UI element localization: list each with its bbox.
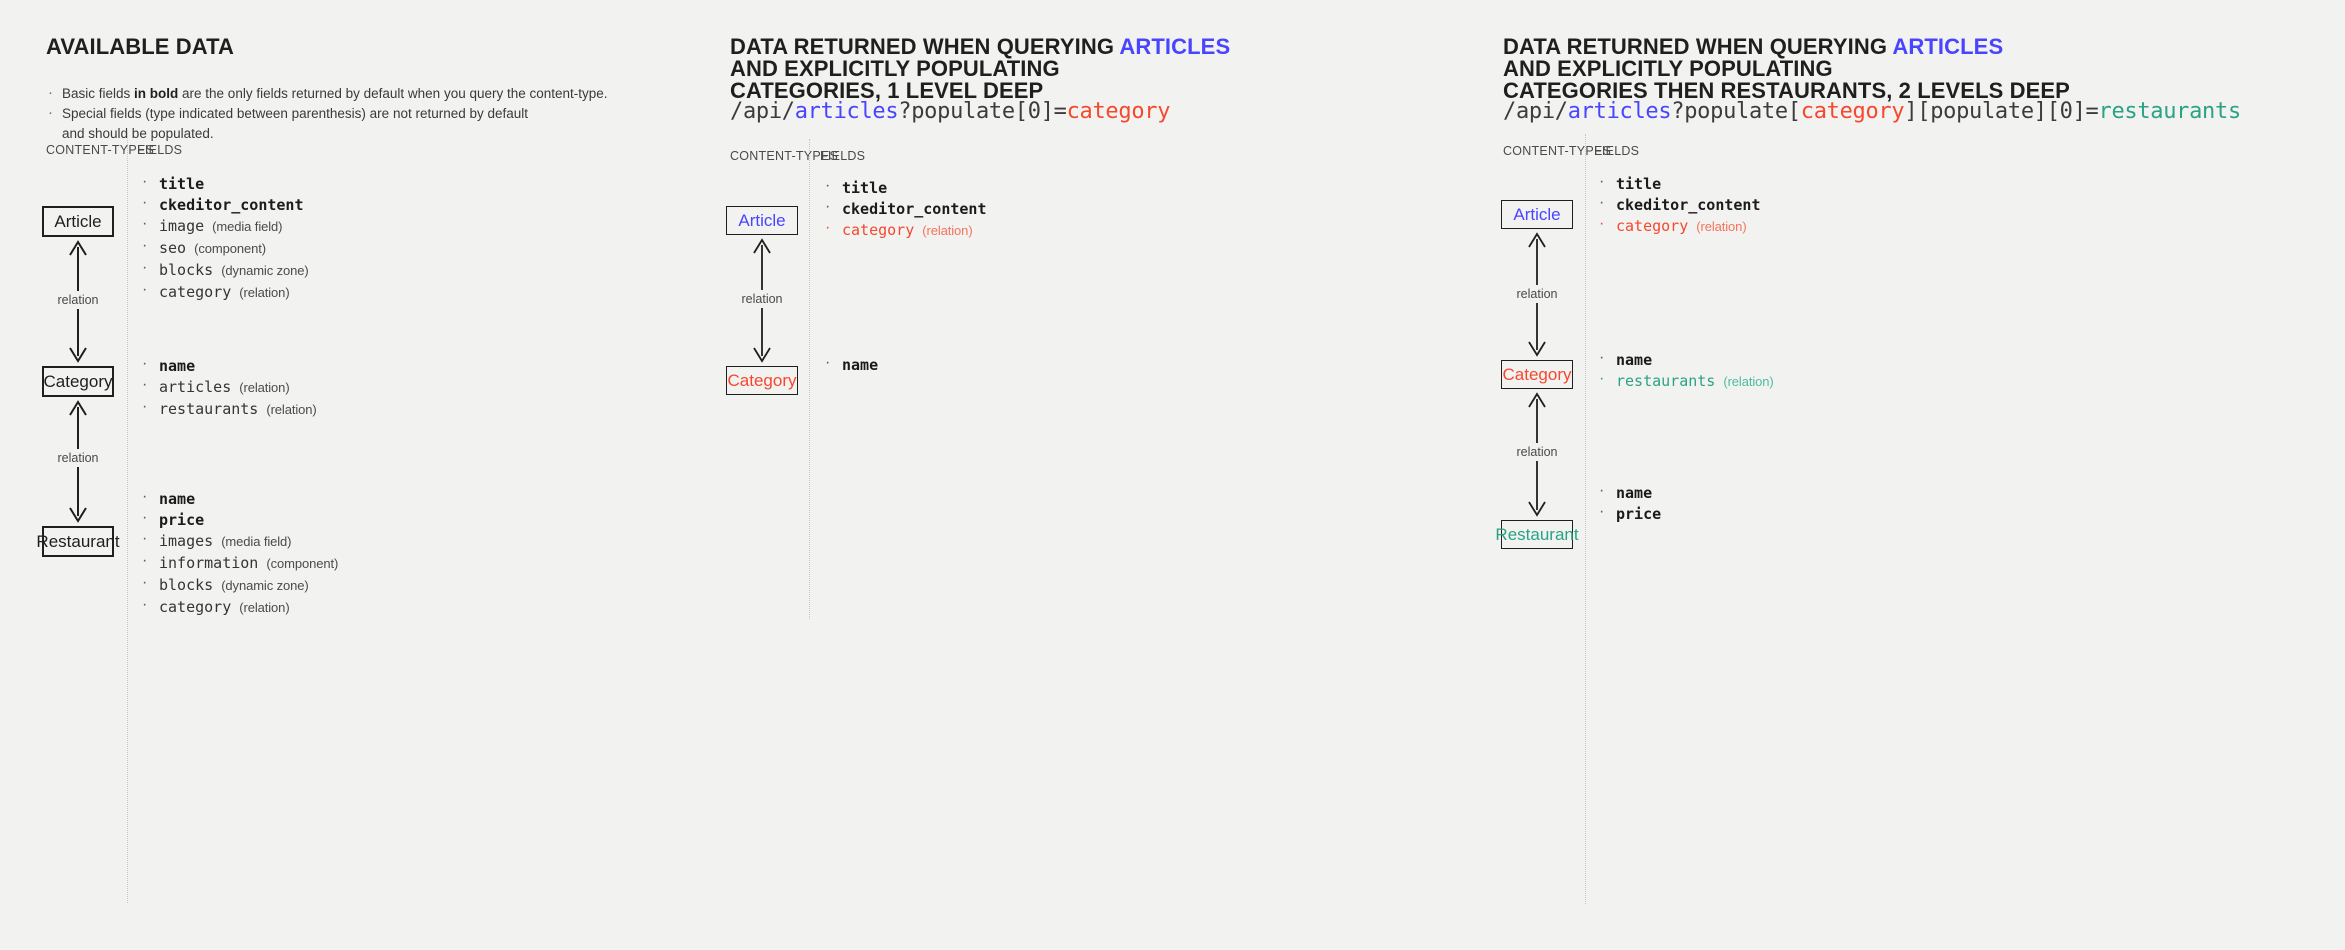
field-name: images — [159, 532, 213, 550]
field-name: name — [1616, 484, 1652, 502]
fieldlist-restaurant: name price — [1594, 485, 1661, 527]
field-type: (relation) — [1696, 219, 1746, 234]
field-name: category — [842, 221, 914, 239]
entity-box-restaurant[interactable]: Restaurant — [1501, 520, 1573, 549]
note-text-pre: Special fields (type indicated between p… — [62, 106, 528, 121]
fieldlist-article: title ckeditor_content category(relation… — [1594, 176, 1761, 240]
field-row: title — [137, 176, 309, 192]
heading-highlight-articles: ARTICLES — [1119, 34, 1230, 59]
field-row: ckeditor_content — [820, 201, 987, 217]
field-row: category(relation) — [137, 599, 338, 616]
panel-populate-1-level: DATA RETURNED WHEN QUERYING ARTICLES AND… — [720, 0, 1490, 950]
note-text-continued: and should be populated. — [62, 123, 666, 143]
field-name: category — [159, 283, 231, 301]
field-row: name — [1594, 352, 1774, 368]
field-name: blocks — [159, 261, 213, 279]
relation-label: relation — [737, 290, 788, 308]
field-row: image(media field) — [137, 218, 309, 235]
field-name: price — [159, 511, 204, 529]
panel1-heading: AVAILABLE DATA — [46, 30, 234, 63]
field-name: name — [842, 356, 878, 374]
field-name: seo — [159, 239, 186, 257]
relation-label: relation — [1512, 285, 1563, 303]
field-type: (relation) — [239, 600, 289, 615]
field-row: name — [137, 358, 317, 374]
field-name: restaurants — [1616, 372, 1715, 390]
panel-available-data: AVAILABLE DATA Basic fields in bold are … — [0, 0, 720, 950]
api-path-part-category: category — [1801, 99, 1905, 124]
panel2-fields-label: FIELDS — [820, 149, 865, 163]
field-name: title — [159, 175, 204, 193]
fieldlist-category: name restaurants(relation) — [1594, 352, 1774, 395]
field-row: blocks(dynamic zone) — [137, 262, 309, 279]
api-path-part: /api/ — [1503, 99, 1568, 124]
field-name: price — [1616, 505, 1661, 523]
api-path-part: ?populate[0]= — [898, 99, 1066, 124]
fieldlist-article: title ckeditor_content category(relation… — [820, 180, 987, 244]
fieldlist-article: title ckeditor_content image(media field… — [137, 176, 309, 306]
field-row: category(relation) — [137, 284, 309, 301]
entity-box-article[interactable]: Article — [42, 206, 114, 237]
field-name: restaurants — [159, 400, 258, 418]
field-name: articles — [159, 378, 231, 396]
api-path-part-articles: articles — [1568, 99, 1672, 124]
field-row: restaurants(relation) — [137, 401, 317, 418]
fieldlist-category: name — [820, 357, 878, 378]
field-name: information — [159, 554, 258, 572]
field-type: (relation) — [239, 380, 289, 395]
field-row: ckeditor_content — [1594, 197, 1761, 213]
panel3-api-path: /api/articles?populate[category][populat… — [1503, 99, 2241, 124]
relation-label: relation — [53, 449, 104, 467]
field-row: images(media field) — [137, 533, 338, 550]
field-type: (dynamic zone) — [221, 263, 308, 278]
panel1-fields-label: FIELDS — [137, 143, 182, 157]
field-name: name — [1616, 351, 1652, 369]
field-row: name — [820, 357, 878, 373]
field-row: category(relation) — [820, 222, 987, 239]
note-text-pre: Basic fields — [62, 86, 134, 101]
panel3-column-divider — [1585, 134, 1586, 904]
field-type: (relation) — [239, 285, 289, 300]
field-name: name — [159, 357, 195, 375]
field-name: ckeditor_content — [159, 196, 304, 214]
entity-box-category[interactable]: Category — [726, 366, 798, 395]
field-row: name — [137, 491, 338, 507]
field-row: seo(component) — [137, 240, 309, 257]
note-item: Special fields (type indicated between p… — [46, 105, 666, 143]
api-path-part-articles: articles — [795, 99, 899, 124]
api-path-part-restaurants: restaurants — [2099, 99, 2241, 124]
field-name: blocks — [159, 576, 213, 594]
field-row: restaurants(relation) — [1594, 373, 1774, 390]
heading-highlight-articles: ARTICLES — [1892, 34, 2003, 59]
field-name: title — [842, 179, 887, 197]
note-text-post: are the only fields returned by default … — [178, 86, 607, 101]
field-type: (media field) — [221, 534, 291, 549]
field-row: name — [1594, 485, 1661, 501]
field-row: title — [1594, 176, 1761, 192]
note-item: Basic fields in bold are the only fields… — [46, 85, 666, 103]
relation-label: relation — [53, 291, 104, 309]
fieldlist-restaurant: name price images(media field) informati… — [137, 491, 338, 621]
entity-box-category[interactable]: Category — [1501, 360, 1573, 389]
panel-populate-2-levels: DATA RETURNED WHEN QUERYING ARTICLES AND… — [1490, 0, 2345, 950]
entity-box-restaurant[interactable]: Restaurant — [42, 526, 114, 557]
field-row: information(component) — [137, 555, 338, 572]
api-path-part-category: category — [1067, 99, 1171, 124]
field-row: price — [137, 512, 338, 528]
field-type: (dynamic zone) — [221, 578, 308, 593]
field-name: ckeditor_content — [1616, 196, 1761, 214]
note-text-bold: in bold — [134, 86, 178, 101]
field-name: title — [1616, 175, 1661, 193]
field-type: (relation) — [266, 402, 316, 417]
entity-box-article[interactable]: Article — [726, 206, 798, 235]
relation-label: relation — [1512, 443, 1563, 461]
entity-box-article[interactable]: Article — [1501, 200, 1573, 229]
fieldlist-category: name articles(relation) restaurants(rela… — [137, 358, 317, 423]
field-type: (media field) — [212, 219, 282, 234]
panel3-fields-label: FIELDS — [1594, 144, 1639, 158]
field-row: category(relation) — [1594, 218, 1761, 235]
api-path-part: ?populate[ — [1671, 99, 1800, 124]
panel1-column-divider — [127, 133, 128, 903]
field-name: ckeditor_content — [842, 200, 987, 218]
panel2-api-path: /api/articles?populate[0]=category — [730, 99, 1170, 124]
field-name: category — [1616, 217, 1688, 235]
field-row: title — [820, 180, 987, 196]
field-type: (component) — [266, 556, 338, 571]
field-type: (relation) — [1723, 374, 1773, 389]
panel2-column-divider — [809, 139, 810, 619]
entity-box-category[interactable]: Category — [42, 366, 114, 397]
api-path-part: /api/ — [730, 99, 795, 124]
field-name: category — [159, 598, 231, 616]
field-row: blocks(dynamic zone) — [137, 577, 338, 594]
field-type: (relation) — [922, 223, 972, 238]
api-path-part: ][populate][0]= — [1904, 99, 2098, 124]
field-type: (component) — [194, 241, 266, 256]
field-name: name — [159, 490, 195, 508]
panel1-notes: Basic fields in bold are the only fields… — [46, 85, 666, 145]
field-row: price — [1594, 506, 1661, 522]
field-row: articles(relation) — [137, 379, 317, 396]
field-row: ckeditor_content — [137, 197, 309, 213]
field-name: image — [159, 217, 204, 235]
